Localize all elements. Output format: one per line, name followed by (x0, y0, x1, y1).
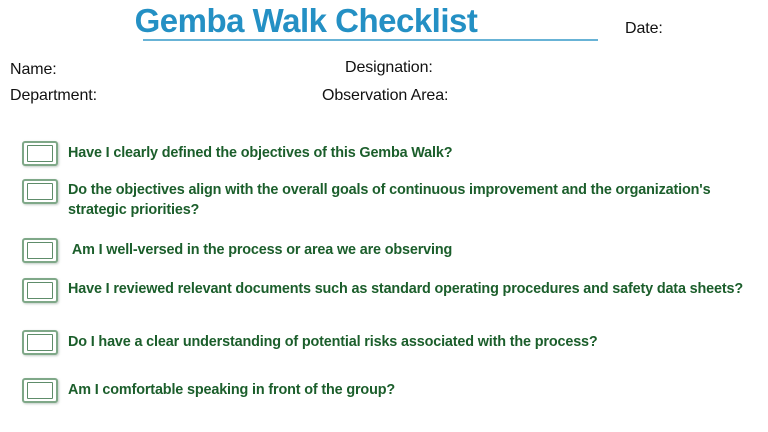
title-underline (143, 39, 598, 41)
checkbox-icon[interactable] (22, 141, 58, 166)
checklist-document: Gemba Walk Checklist Date: Name: Departm… (0, 0, 768, 432)
checklist-item-label: Have I reviewed relevant documents such … (68, 279, 758, 299)
page-title: Gemba Walk Checklist (0, 4, 612, 39)
department-field-label[interactable]: Department: (10, 87, 97, 105)
name-field-label[interactable]: Name: (10, 61, 57, 79)
checklist-item-label: Do I have a clear understanding of poten… (68, 332, 758, 352)
checkbox-icon[interactable] (22, 278, 58, 303)
checkbox-icon[interactable] (22, 330, 58, 355)
checklist-item-label: Am I well-versed in the process or area … (68, 240, 758, 260)
observation-area-field-label[interactable]: Observation Area: (322, 87, 448, 105)
designation-field-label[interactable]: Designation: (345, 59, 433, 77)
checkbox-icon[interactable] (22, 378, 58, 403)
checklist-item-label: Have I clearly defined the objectives of… (68, 143, 758, 163)
checklist-item-label: Do the objectives align with the overall… (68, 180, 758, 220)
checkbox-icon[interactable] (22, 238, 58, 263)
date-field-label[interactable]: Date: (625, 20, 663, 38)
checkbox-icon[interactable] (22, 179, 58, 204)
checklist-item-label: Am I comfortable speaking in front of th… (68, 380, 758, 400)
